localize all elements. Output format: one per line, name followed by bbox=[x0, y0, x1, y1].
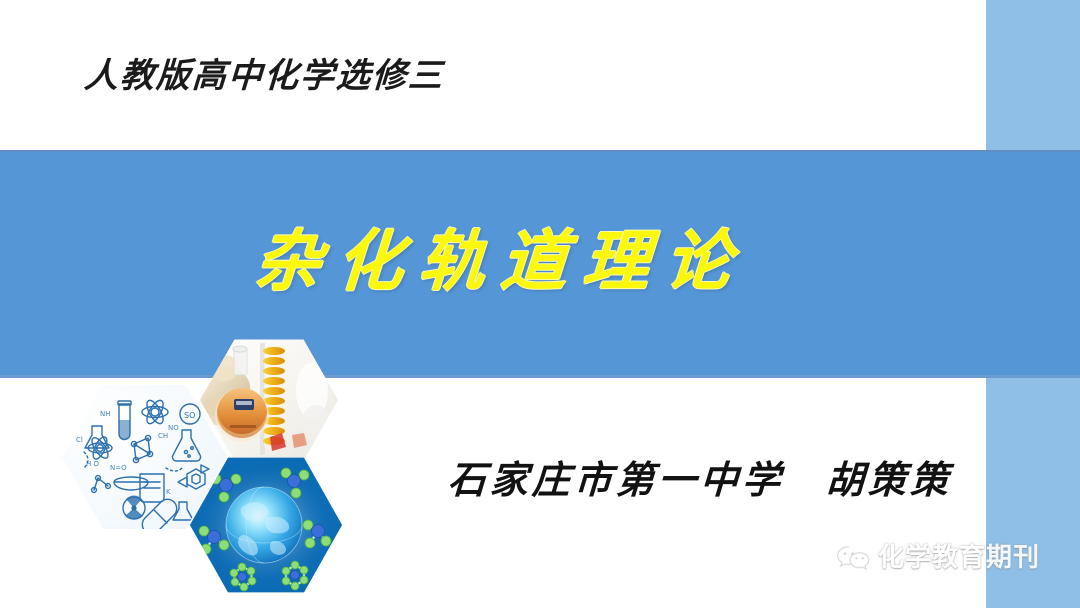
svg-text:N=O: N=O bbox=[110, 464, 127, 472]
svg-text:K: K bbox=[166, 488, 171, 496]
svg-text:NO: NO bbox=[168, 424, 179, 432]
wechat-icon bbox=[836, 543, 870, 571]
wechat-watermark-label: 化学教育期刊 bbox=[878, 544, 1040, 570]
wechat-watermark: 化学教育期刊 bbox=[836, 543, 1040, 571]
svg-text:NH: NH bbox=[100, 410, 111, 418]
svg-text:CH: CH bbox=[158, 432, 168, 440]
presenter-label: 石家庄市第一中学 胡策策 bbox=[447, 462, 953, 500]
slide-canvas: 人教版高中化学选修三 杂化轨道理论 石家庄市第一中学 胡策策 bbox=[0, 0, 1080, 608]
svg-text:Cl: Cl bbox=[76, 436, 83, 444]
series-label: 人教版高中化学选修三 bbox=[83, 60, 445, 94]
svg-text:SO: SO bbox=[184, 411, 195, 420]
title-container: 杂化轨道理论 bbox=[0, 150, 986, 376]
page-title: 杂化轨道理论 bbox=[237, 230, 750, 296]
